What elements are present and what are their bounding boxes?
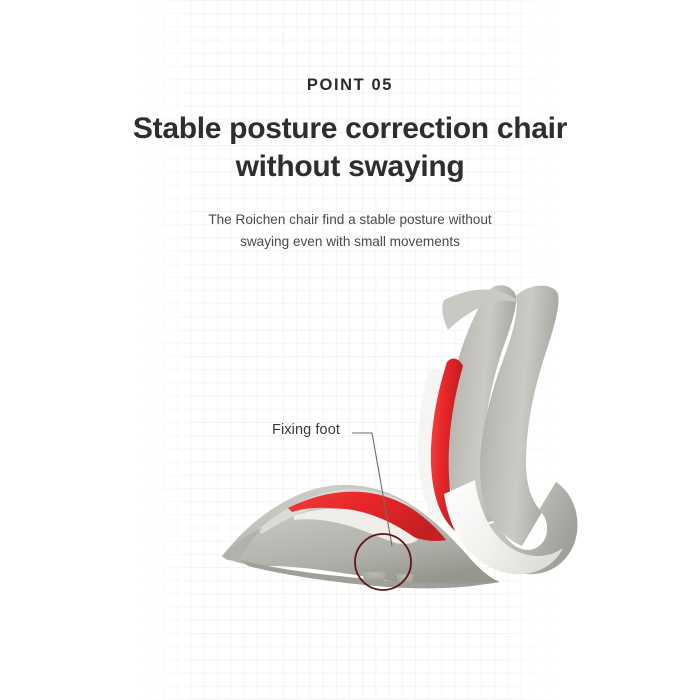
product-illustration: Fixing foot (0, 0, 700, 700)
product-feature-page: POINT 05 Stable posture correction chair… (0, 0, 700, 700)
chair-graphic (0, 0, 700, 700)
callout-label-fixing-foot: Fixing foot (272, 422, 340, 438)
chair-fixing-foot-left (362, 572, 386, 580)
